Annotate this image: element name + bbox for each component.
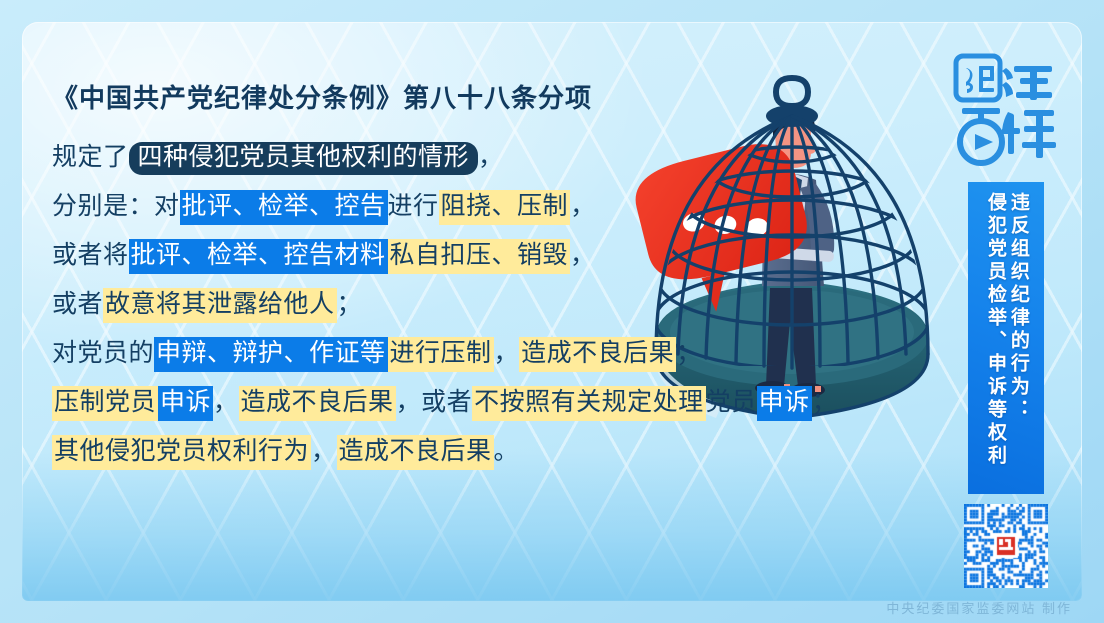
text-run: 或者将 xyxy=(52,242,129,269)
text-block: 《中国共产党纪律处分条例》第八十八条分项 规定了四种侵犯党员其他权利的情形，分别… xyxy=(52,78,892,464)
highlight-blue: 申辩、辩护、作证等 xyxy=(154,337,388,372)
logo-char-ke-icon xyxy=(1002,110,1056,158)
qr-code[interactable] xyxy=(964,504,1048,588)
text-run: ， xyxy=(570,193,596,220)
text-run: 。 xyxy=(494,438,520,465)
highlight-yellow: 造成不良后果 xyxy=(239,386,396,421)
line-2: 分别是：对批评、检举、控告进行阻挠、压制， xyxy=(52,194,892,219)
side-banner-column-left: 侵犯党员检举、申诉等权利 xyxy=(984,192,1005,482)
highlight-blue: 批评、检举、控告 xyxy=(180,190,388,225)
side-banner: 违反组织纪律的行为： 侵犯党员检举、申诉等权利 xyxy=(968,182,1044,494)
qr-code-canvas[interactable] xyxy=(964,504,1048,588)
highlight-yellow: 造成不良后果 xyxy=(519,337,676,372)
body-lines: 规定了四种侵犯党员其他权利的情形，分别是：对批评、检举、控告进行阻挠、压制，或者… xyxy=(52,145,892,464)
text-run: 进行 xyxy=(388,193,439,220)
logo-jifa-baike[interactable] xyxy=(952,52,1056,174)
text-run: ，或者 xyxy=(396,389,473,416)
logo-char-bai-play-icon xyxy=(960,108,1002,163)
text-run: 规定了 xyxy=(52,144,129,171)
line-1: 规定了四种侵犯党员其他权利的情形， xyxy=(52,145,892,170)
text-run: ； xyxy=(812,389,838,416)
footer-credit: 中央纪委国家监委网站 制作 xyxy=(886,598,1072,617)
line-7: 其他侵犯党员权利行为，造成不良后果。 xyxy=(52,439,892,464)
text-run: ， xyxy=(478,144,504,171)
text-run: ， xyxy=(494,340,520,367)
highlight-blue: 申诉 xyxy=(757,386,812,421)
line-4: 或者故意将其泄露给他人； xyxy=(52,292,892,317)
side-banner-column-right: 违反组织纪律的行为： xyxy=(1007,192,1028,482)
highlight-yellow: 压制党员 xyxy=(52,386,158,421)
line-6: 压制党员申诉，造成不良后果，或者不按照有关规定处理党员申诉； xyxy=(52,390,892,415)
highlight-yellow: 进行压制 xyxy=(388,337,494,372)
highlight-yellow: 不按照有关规定处理 xyxy=(472,386,706,421)
poster-canvas: 《中国共产党纪律处分条例》第八十八条分项 规定了四种侵犯党员其他权利的情形，分别… xyxy=(0,0,1104,623)
line-3: 或者将批评、检举、控告材料私自扣压、销毁， xyxy=(52,243,892,268)
highlight-yellow: 私自扣压、销毁 xyxy=(388,239,571,274)
bottom-gradient xyxy=(22,451,1082,601)
highlight-navy: 四种侵犯党员其他权利的情形 xyxy=(129,142,479,175)
text-run: 党员 xyxy=(706,389,757,416)
text-run: 或者 xyxy=(52,291,103,318)
line-5: 对党员的申辩、辩护、作证等进行压制，造成不良后果； xyxy=(52,341,892,366)
text-run: 对党员的 xyxy=(52,340,154,367)
highlight-yellow: 其他侵犯党员权利行为 xyxy=(52,435,311,470)
text-run: ， xyxy=(311,438,337,465)
text-run: ， xyxy=(213,389,239,416)
highlight-yellow: 故意将其泄露给他人 xyxy=(103,288,337,323)
highlight-blue: 申诉 xyxy=(158,386,213,421)
text-run: ； xyxy=(337,291,363,318)
logo-char-ji-icon xyxy=(966,66,994,93)
highlight-yellow: 阻挠、压制 xyxy=(439,190,571,225)
highlight-yellow: 造成不良后果 xyxy=(337,435,494,470)
highlight-blue: 批评、检举、控告材料 xyxy=(129,239,388,274)
text-run: 分别是：对 xyxy=(52,193,180,220)
logo-char-fa-icon xyxy=(1002,66,1052,100)
text-run: ； xyxy=(676,340,702,367)
text-run: ， xyxy=(570,242,596,269)
page-title: 《中国共产党纪律处分条例》第八十八条分项 xyxy=(52,78,892,115)
